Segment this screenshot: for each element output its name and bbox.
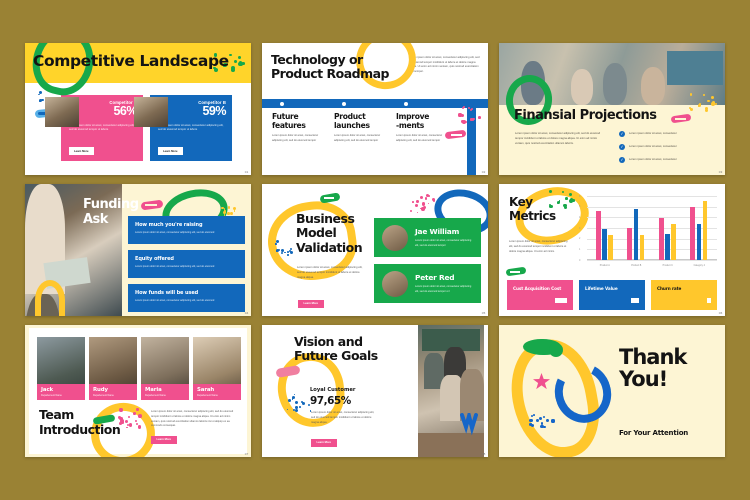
member-4-name: Sarah	[197, 387, 241, 393]
competitor-a-body: Lorem ipsum dolor sit amet, consectetur …	[69, 124, 137, 133]
decorative-dot	[420, 208, 422, 210]
member-3-name: Maria	[145, 387, 189, 393]
page-title-line1: Technology or	[271, 53, 389, 67]
page-title-line3: Validation	[296, 241, 362, 255]
chart-y-tick-label: 2	[579, 237, 580, 240]
roadmap-node-1	[280, 102, 284, 106]
page-title-line2: Ask	[83, 213, 139, 228]
page-title: Business Model Validation	[296, 212, 362, 255]
testimonial-card-2[interactable]: Peter Red Lorem ipsum dolor sit amet, co…	[374, 264, 481, 303]
chart-bar	[665, 234, 670, 260]
pink-smear-accent	[675, 118, 686, 120]
decorative-dot	[39, 94, 41, 96]
decorative-dot	[426, 194, 429, 197]
decorative-dot	[478, 116, 481, 119]
member-2-name: Rudy	[93, 387, 137, 393]
roadmap-track	[262, 99, 488, 108]
slide-business-model-validation[interactable]: Business Model Validation Lorem ipsum do…	[262, 184, 488, 316]
checklist-item: ✓ Lorem ipsum dolor sit amet, consectetu…	[619, 144, 719, 150]
page-number: 01	[245, 170, 249, 174]
metric-card-3[interactable]: Churn rate	[651, 280, 717, 310]
funding-bar-2-body: Lorem ipsum dolor sit amet, consectetur …	[135, 265, 238, 269]
page-number: 03	[719, 170, 723, 174]
roadmap-step-3[interactable]: Improve -ments Lorem ipsum dolor sit ame…	[396, 113, 454, 143]
learn-more-button[interactable]: Learn More	[151, 436, 177, 444]
step-2-body: Lorem ipsum dolor sit amet, consectetur …	[334, 134, 392, 143]
team-member-4[interactable]: Sarah Departement Name	[193, 337, 241, 400]
step-2-heading-line2: launches	[334, 122, 392, 131]
decorative-dot	[423, 206, 426, 209]
chart-bar	[596, 211, 601, 260]
member-2-role: Departement Name	[93, 394, 137, 397]
metric-card-1-progress-track	[513, 298, 567, 303]
chart-x-tick-label: Product B	[621, 265, 653, 267]
page-title-line1: Vision and	[294, 335, 378, 349]
step-1-heading-line2: features	[272, 122, 330, 131]
roadmap-node-3	[404, 102, 408, 106]
chart-gridline	[587, 196, 717, 197]
decorative-dot	[462, 120, 465, 123]
photo-table	[418, 433, 484, 457]
decorative-dot	[705, 107, 708, 110]
slide-grid: Competitive Landscape Competitor A 56% L…	[0, 0, 750, 500]
metric-card-1-label: Cust Acquisition Cost	[513, 286, 573, 291]
page-title-line2: Model	[296, 226, 362, 240]
competitor-card-b[interactable]: Competitor B 59% Lorem ipsum dolor sit a…	[150, 95, 232, 161]
step-1-body: Lorem ipsum dolor sit amet, consectetur …	[272, 134, 330, 143]
roadmap-node-2	[342, 102, 346, 106]
photo-person-4	[641, 67, 665, 105]
metrics-bar-chart: 0123456Product AProduct BProduct CCatego…	[579, 192, 717, 270]
pink-dot-cluster	[410, 194, 436, 214]
green-smear-accent	[324, 197, 334, 199]
metric-card-1[interactable]: Cust Acquisition Cost	[507, 280, 573, 310]
page-title-line2: Metrics	[509, 210, 556, 224]
decorative-dot	[233, 207, 236, 210]
metric-card-2-progress-fill	[585, 298, 631, 303]
chart-bar	[627, 228, 632, 260]
page-title: Thank You!	[619, 347, 686, 391]
photo-screen	[667, 51, 723, 85]
chart-bar-group	[690, 201, 707, 260]
roadmap-step-2[interactable]: Product launches Lorem ipsum dolor sit a…	[334, 113, 392, 143]
decorative-dot	[428, 195, 430, 197]
decorative-dot	[227, 212, 230, 215]
slide-vision-future-goals[interactable]: Vision and Future Goals Loyal Customer 9…	[262, 325, 488, 457]
decorative-dot	[689, 107, 691, 109]
chart-bar-group	[659, 218, 676, 260]
member-1-caption: Jack Departement Name	[37, 384, 85, 400]
chart-y-tick-label: 5	[579, 205, 580, 208]
testimonial-2-name: Peter Red	[415, 273, 474, 282]
learn-more-button[interactable]: Learn More	[311, 439, 337, 447]
decorative-dot	[433, 199, 435, 201]
checklist-item: ✓ Lorem ipsum dolor sit amet, consectetu…	[619, 131, 719, 137]
decorative-dot	[432, 198, 435, 201]
learn-more-button[interactable]: Learn More	[298, 300, 324, 308]
checklist-item-text: Lorem ipsum dolor sit amet, consectetur	[629, 132, 677, 136]
decorative-dot	[410, 210, 412, 212]
funding-bar-3-body: Lorem ipsum dolor sit amet, consectetur …	[135, 299, 238, 303]
page-title-line2: You!	[619, 369, 686, 391]
check-icon: ✓	[619, 157, 625, 163]
decorative-dot	[412, 201, 414, 203]
team-member-1[interactable]: Jack Departement Name	[37, 337, 85, 400]
chart-x-tick-label: Product A	[589, 265, 621, 267]
checklist: ✓ Lorem ipsum dolor sit amet, consectetu…	[619, 131, 719, 170]
body-paragraph: Lorem ipsum dolor sit amet, consectetur …	[297, 266, 365, 281]
metric-card-2-progress-track	[585, 298, 639, 303]
page-title-line2: Future Goals	[294, 349, 378, 363]
chart-bar	[697, 224, 702, 260]
decorative-dot	[39, 99, 42, 102]
decorative-dot	[41, 99, 43, 101]
page-title-line2: Introduction	[39, 423, 120, 438]
page-title: Team Introduction	[39, 408, 120, 437]
team-member-3[interactable]: Maria Departement Name	[141, 337, 189, 400]
testimonial-2-body: Lorem ipsum dolor sit amet, consectetur …	[415, 285, 474, 293]
member-4-role: Departement Name	[197, 394, 241, 397]
photo-person-2	[571, 69, 593, 105]
metric-card-3-progress-track	[657, 298, 711, 303]
chart-y-tick-label: 3	[579, 227, 580, 230]
page-title: Competitive Landscape	[33, 52, 229, 70]
chart-bar	[690, 207, 695, 260]
member-4-caption: Sarah Departement Name	[193, 384, 241, 400]
competitor-b-learn-more-button[interactable]: Learn More	[158, 147, 183, 155]
page-title: Technology or Product Roadmap	[271, 53, 389, 82]
decorative-dot	[234, 210, 236, 212]
page-title-line2: Product Roadmap	[271, 67, 389, 81]
competitor-a-learn-more-button[interactable]: Learn More	[69, 147, 94, 155]
member-1-role: Departement Name	[41, 394, 85, 397]
funding-bar-2-heading: Equity offered	[135, 256, 245, 262]
metric-card-1-progress-fill	[513, 298, 555, 303]
metric-card-2-label: Lifetime Value	[585, 286, 645, 291]
pink-smear-accent	[145, 204, 157, 206]
chart-bar	[634, 209, 639, 260]
member-3-role: Departement Name	[145, 394, 189, 397]
decorative-dot	[705, 109, 708, 112]
body-paragraph: Lorem ipsum dolor sit amet, consectetur …	[311, 411, 379, 425]
page-title-line1: Team	[39, 408, 120, 423]
decorative-dot	[421, 207, 424, 210]
chart-bar	[671, 224, 676, 260]
body-paragraph: Lorem ipsum dolor sit amet, consectetur …	[151, 410, 237, 429]
slide-technology-roadmap[interactable]: Technology or Product Roadmap Lorem ipsu…	[262, 43, 488, 175]
decorative-dot	[228, 206, 230, 208]
member-1-name: Jack	[41, 387, 85, 393]
competitor-b-photo	[134, 97, 168, 127]
page-title: Vision and Future Goals	[294, 335, 378, 364]
avatar	[382, 271, 408, 297]
chart-x-tick-label: Product C	[652, 265, 684, 267]
chart-bar	[608, 235, 613, 260]
chart-y-tick-label: 4	[579, 216, 580, 219]
page-number: 08	[482, 452, 486, 456]
decorative-dot	[461, 114, 464, 117]
chart-bar	[659, 218, 664, 260]
decorative-dot	[458, 113, 461, 116]
chart-gridline	[587, 260, 717, 261]
roadmap-step-1[interactable]: Future features Lorem ipsum dolor sit am…	[272, 113, 330, 143]
body-paragraph: Lorem ipsum dolor sit amet, consectetur …	[509, 240, 571, 254]
page-number: 04	[245, 311, 249, 315]
check-icon: ✓	[619, 131, 625, 137]
green-smear-accent	[510, 271, 520, 273]
competitor-a-photo	[45, 97, 79, 127]
page-title: Key Metrics	[509, 196, 556, 224]
page-number: 02	[482, 170, 486, 174]
page-number: 07	[245, 452, 249, 456]
decorative-dot	[417, 212, 419, 214]
member-3-caption: Maria Departement Name	[141, 384, 189, 400]
step-3-heading-line2: -ments	[396, 122, 454, 131]
decorative-dot	[416, 200, 419, 203]
decorative-dot	[698, 105, 700, 107]
intro-paragraph: Lorem ipsum dolor sit amet, consectetur …	[409, 56, 481, 75]
avatar	[382, 225, 408, 251]
slide-inner-panel: Jack Departement Name Rudy Departement N…	[29, 328, 247, 454]
decorative-dot	[39, 91, 42, 94]
checklist-item-text: Lorem ipsum dolor sit amet, consectetur	[629, 145, 677, 149]
page-title: Finansial Projections	[514, 108, 657, 123]
decorative-dot	[425, 197, 427, 199]
slide-thank-you[interactable]: Thank You! For Your Attention	[499, 325, 725, 457]
funding-bar-1-heading: How much you're raising	[135, 222, 245, 228]
funding-bar-2[interactable]: Equity offered Lorem ipsum dolor sit ame…	[128, 250, 245, 278]
body-paragraph: Lorem ipsum dolor sit amet, consectetur …	[515, 131, 601, 146]
slide-key-metrics[interactable]: Key Metrics Lorem ipsum dolor sit amet, …	[499, 184, 725, 316]
funding-bar-3[interactable]: How funds will be used Lorem ipsum dolor…	[128, 284, 245, 312]
decorative-dot	[415, 204, 418, 207]
page-title-line1: Funding	[83, 198, 139, 213]
pink-smear-accent	[451, 134, 462, 136]
decorative-dot	[230, 212, 233, 215]
chart-bar-group	[596, 211, 613, 260]
checklist-item: ✓ Lorem ipsum dolor sit amet, consectetu…	[619, 157, 719, 163]
page-title: Funding Ask	[83, 198, 139, 227]
page-number: 05	[482, 311, 486, 315]
chart-bar	[640, 235, 645, 260]
slide-team-introduction[interactable]: Jack Departement Name Rudy Departement N…	[25, 325, 251, 457]
testimonial-card-1[interactable]: Jae William Lorem ipsum dolor sit amet, …	[374, 218, 481, 257]
metric-card-3-progress-fill	[657, 298, 707, 303]
classroom-photo	[418, 325, 484, 457]
kpi-label: Loyal Customer	[310, 387, 355, 393]
page-number: 06	[719, 311, 723, 315]
decorative-dot	[461, 120, 464, 123]
decorative-dot	[428, 203, 430, 205]
page-title-line1: Key	[509, 196, 556, 210]
chart-y-tick-label: 0	[579, 259, 580, 262]
decorative-dot	[420, 196, 423, 199]
team-member-2[interactable]: Rudy Departement Name	[89, 337, 137, 400]
testimonial-1-body: Lorem ipsum dolor sit amet, consectetur …	[415, 239, 474, 247]
chart-bar-group	[627, 209, 644, 260]
funding-bar-1-body: Lorem ipsum dolor sit amet, consectetur …	[135, 231, 238, 235]
page-subtitle: For Your Attention	[619, 429, 688, 437]
slide-finansial-projections[interactable]: Finansial Projections Lorem ipsum dolor …	[499, 43, 725, 175]
competitor-b-body: Lorem ipsum dolor sit amet, consectetur …	[158, 124, 226, 133]
decorative-dot	[690, 108, 693, 111]
chart-bar	[703, 201, 708, 260]
testimonial-1-name: Jae William	[415, 227, 474, 236]
page-title-line1: Thank	[619, 347, 686, 369]
decorative-dot	[38, 94, 39, 95]
chart-y-tick-label: 6	[579, 195, 580, 198]
checklist-item-text: Lorem ipsum dolor sit amet, consectetur	[629, 158, 677, 162]
competitor-card-a[interactable]: Competitor A 56% Lorem ipsum dolor sit a…	[61, 95, 143, 161]
funding-bar-1[interactable]: How much you're raising Lorem ipsum dolo…	[128, 216, 245, 244]
roadmap-track-drop	[467, 99, 476, 175]
yellow-hook-shape	[35, 280, 65, 316]
slide-funding-ask[interactable]: Funding Ask How much you're raising Lore…	[25, 184, 251, 316]
kpi-value: 97,65%	[310, 395, 351, 407]
metric-card-2[interactable]: Lifetime Value	[579, 280, 645, 310]
member-2-caption: Rudy Departement Name	[89, 384, 137, 400]
decorative-dot	[39, 100, 41, 102]
green-blob-accent	[549, 343, 563, 357]
chart-bar	[602, 229, 607, 260]
chart-y-tick-label: 1	[579, 248, 580, 251]
page-title-line1: Business	[296, 212, 362, 226]
funding-bar-3-heading: How funds will be used	[135, 290, 245, 296]
metric-card-3-label: Churn rate	[657, 286, 717, 291]
slide-competitive-landscape[interactable]: Competitive Landscape Competitor A 56% L…	[25, 43, 251, 175]
chart-x-tick-label: Category 4	[684, 265, 716, 267]
decorative-dot	[422, 202, 425, 205]
check-icon: ✓	[619, 144, 625, 150]
blue-brush-shape	[460, 413, 480, 435]
photo-person-3	[603, 63, 627, 105]
